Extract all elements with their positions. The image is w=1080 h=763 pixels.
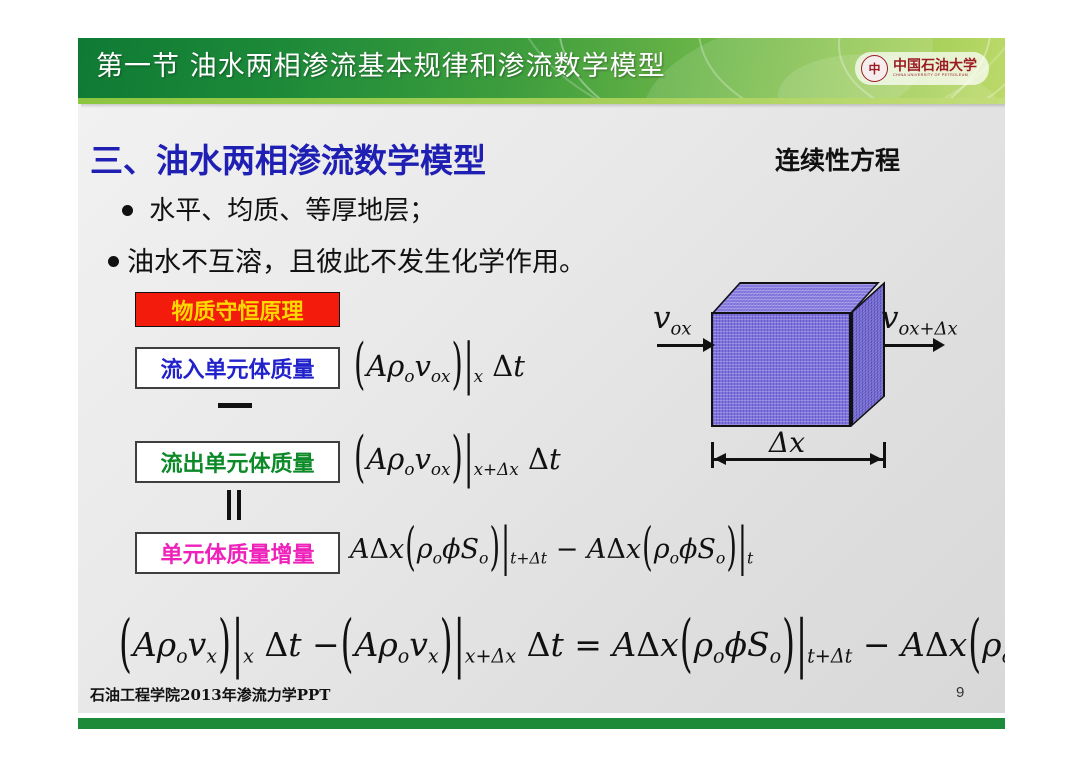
- dimension-label: Δx: [769, 426, 805, 459]
- footer-text: 石油工程学院2013年渗流力学PPT: [90, 684, 330, 705]
- slide-canvas: 第一节 油水两相渗流基本规律和渗流数学模型 中 中国石油大学 CHINA UNI…: [78, 38, 1005, 713]
- university-logo: 中 中国石油大学 CHINA UNIVERSITY OF PETROLEUM: [855, 52, 989, 85]
- cube-front-face: [711, 312, 851, 427]
- dimension-delta-x: Δx: [711, 436, 887, 468]
- university-logo-text: 中国石油大学 CHINA UNIVERSITY OF PETROLEUM: [893, 59, 977, 77]
- dimension-arrow-right-icon: [870, 453, 882, 465]
- page-number: 9: [956, 684, 964, 701]
- banner-shadow: [81, 104, 1005, 108]
- box-outflow-mass: 流出单元体质量: [135, 441, 340, 483]
- bullet-text-1: 水平、均质、等厚地层；: [141, 196, 435, 226]
- university-name-cn: 中国石油大学: [893, 59, 977, 74]
- dimension-arrow-left-icon: [714, 453, 726, 465]
- outflow-arrow-line: [885, 344, 940, 347]
- label-inflow-velocity: vox: [653, 300, 691, 339]
- bullet-item-2: 油水不互溶，且彼此不发生化学作用。: [108, 240, 586, 279]
- bullet-item-1: 水平、均质、等厚地层；: [122, 190, 435, 227]
- university-name-en: CHINA UNIVERSITY OF PETROLEUM: [893, 74, 981, 78]
- section-heading: 三、油水两相渗流数学模型: [90, 134, 486, 182]
- box-inflow-mass: 流入单元体质量: [135, 347, 340, 389]
- inflow-arrow-line: [657, 344, 709, 347]
- equation-main-mass-balance: (Aρovx)|x Δt −(Aρovx)|x+Δx Δt = AΔx(ρoϕS…: [118, 628, 1005, 666]
- box-mass-increment: 单元体质量增量: [135, 532, 340, 574]
- bullet-dot-icon: [122, 205, 133, 216]
- label-outflow-velocity: vox+Δx: [881, 300, 958, 339]
- continuity-equation-label: 连续性方程: [775, 141, 900, 177]
- dimension-tick-right: [883, 442, 886, 468]
- operator-minus: [218, 403, 252, 408]
- equation-mass-increment: AΔx(ρoϕSo)|t+Δt − AΔx(ρoϕSo)|t: [350, 536, 753, 566]
- equation-inflow: (Aρovox)|x Δt: [353, 352, 525, 385]
- banner-title: 第一节 油水两相渗流基本规律和渗流数学模型: [96, 44, 666, 83]
- bullet-dot-icon: [108, 256, 119, 267]
- operator-equals: [223, 490, 245, 520]
- control-volume-diagram: vox vox+Δx Δx: [623, 268, 988, 468]
- outflow-arrow-head-icon: [933, 338, 945, 352]
- bullet-text-2: 油水不互溶，且彼此不发生化学作用。: [127, 247, 586, 278]
- slide-header-banner: 第一节 油水两相渗流基本规律和渗流数学模型 中 中国石油大学 CHINA UNI…: [78, 38, 1005, 98]
- slide-page: 第一节 油水两相渗流基本规律和渗流数学模型 中 中国石油大学 CHINA UNI…: [0, 0, 1080, 763]
- university-emblem-icon: 中: [861, 55, 888, 82]
- inflow-arrow-head-icon: [703, 338, 715, 352]
- box-mass-conservation-principle: 物质守恒原理: [135, 292, 340, 327]
- equation-outflow: (Aρovox)|x+Δx Δt: [353, 445, 561, 478]
- footer-green-bar: [78, 718, 1005, 729]
- cube-element: [711, 282, 886, 427]
